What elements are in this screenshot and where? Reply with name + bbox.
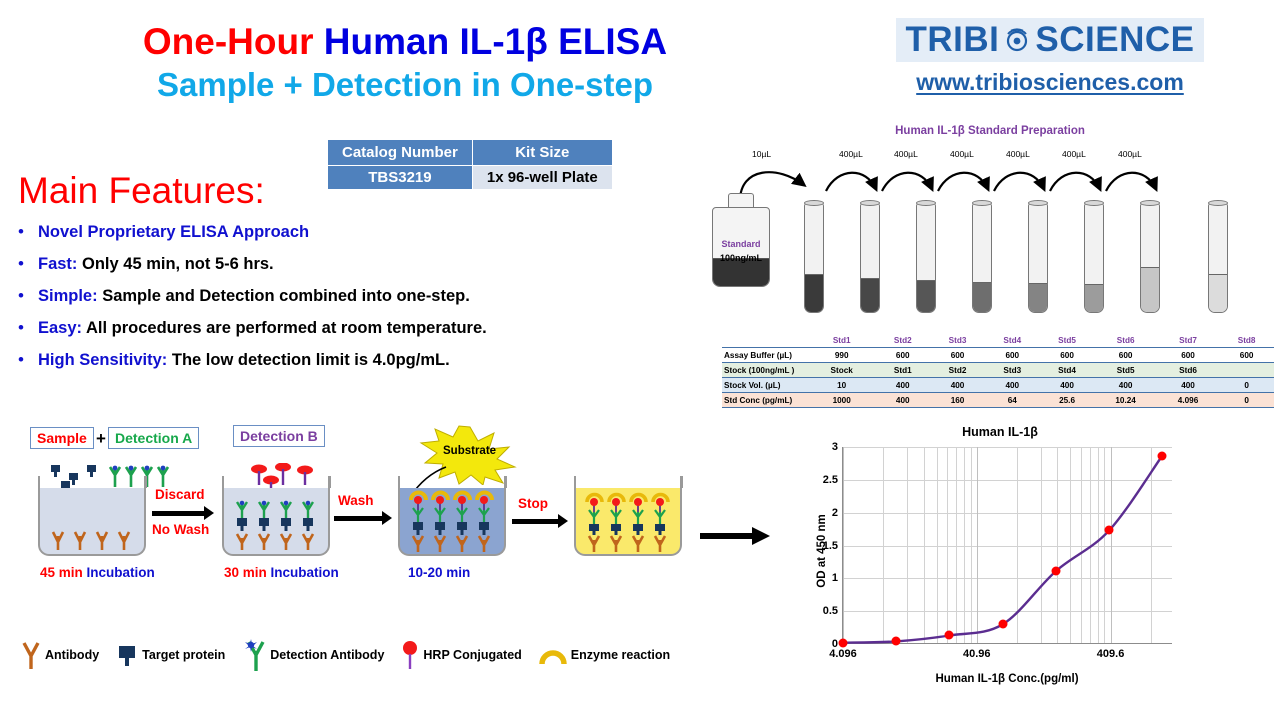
transfer-volume-label: 400µL: [839, 149, 863, 159]
vial-neck: [728, 193, 754, 207]
dilution-row-std-conc: Std Conc (pg/mL) 1000 400 160 64 25.6 10…: [722, 393, 1274, 408]
standard-prep-title: Human IL-1β Standard Preparation: [700, 125, 1280, 137]
dilution-cell: 990: [808, 348, 875, 363]
well-step-1: [38, 488, 146, 556]
dilution-cell: [1219, 363, 1274, 378]
chart-plot-area: 00.511.522.53 4.09640.96409.6: [842, 447, 1172, 644]
hrp-conjugated-icon: [400, 639, 420, 671]
dilution-col-header: Std4: [985, 333, 1040, 348]
chart-x-axis-label: Human IL-1β Conc.(pg/ml): [842, 673, 1172, 685]
catalog-header-size: Kit Size: [472, 140, 612, 166]
dilution-tube-std8: [1208, 203, 1228, 313]
tag-detection-a: Detection A: [108, 427, 199, 449]
dilution-row-label: Std Conc (pg/mL): [722, 393, 808, 408]
dilution-cell: 400: [1094, 378, 1156, 393]
title-part-one-hour: One-Hour: [143, 21, 324, 62]
dilution-cell: Std3: [985, 363, 1040, 378]
dilution-tube-std7: [1140, 203, 1160, 313]
catalog-header-number: Catalog Number: [328, 140, 473, 166]
legend-label: Detection Antibody: [270, 648, 384, 662]
dilution-cell: Std1: [875, 363, 930, 378]
elisa-workflow-diagram: Sample + Detection A: [0, 415, 730, 615]
dilution-cell: 400: [875, 393, 930, 408]
data-point: [839, 638, 848, 647]
dilution-table: Std1 Std2 Std3 Std4 Std5 Std6 Std7 Std8 …: [722, 333, 1274, 408]
data-point: [892, 637, 901, 646]
dilution-cell: 160: [930, 393, 985, 408]
chart-title: Human IL-1β: [800, 425, 1200, 439]
feature-label: Novel Proprietary ELISA Approach: [38, 223, 309, 241]
feature-item: • High Sensitivity: The low detection li…: [18, 350, 678, 370]
feature-text: The low detection limit is 4.0pg/mL.: [167, 351, 449, 369]
legend-item-hrp-conjugated: HRP Conjugated: [400, 639, 521, 671]
dilution-cell: 600: [1040, 348, 1095, 363]
step-1-label: 45 min Incubation: [40, 565, 155, 580]
arrow-2-shaft: [334, 516, 382, 521]
dilution-cell: 600: [1219, 348, 1274, 363]
logo-word-science: SCIENCE: [1035, 20, 1194, 60]
dilution-row-assay-buffer: Assay Buffer (µL) 990 600 600 600 600 60…: [722, 348, 1274, 363]
x-tick-label: 409.6: [1097, 648, 1125, 660]
arrow-1-label-line1: Discard: [155, 487, 205, 502]
dilution-corner-cell: [722, 333, 808, 348]
dilution-cell: 600: [1157, 348, 1219, 363]
detection-antibody-icon: [241, 638, 267, 672]
standard-vial: Standard 100ng/mL: [712, 193, 770, 287]
eye-target-icon: [1002, 25, 1032, 55]
x-tick-label: 4.096: [829, 648, 857, 660]
feature-item: • Novel Proprietary ELISA Approach: [18, 222, 678, 242]
feature-label: High Sensitivity:: [38, 351, 167, 369]
standard-preparation-diagram: Human IL-1β Standard Preparation 10µL 40…: [700, 125, 1280, 325]
well-step-2: [222, 488, 330, 556]
dilution-row-label: Stock (100ng/mL ): [722, 363, 808, 378]
dilution-tube-std6: [1084, 203, 1104, 313]
arrow-1-head: [204, 506, 214, 520]
feature-text: All procedures are performed at room tem…: [82, 319, 487, 337]
dilution-col-header: Std6: [1094, 333, 1156, 348]
dilution-row-stock-volume: Stock Vol. (µL) 10 400 400 400 400 400 4…: [722, 378, 1274, 393]
x-tick-label: 40.96: [963, 648, 991, 660]
arrow-3-label: Stop: [518, 496, 548, 511]
tag-substrate: Substrate: [443, 445, 496, 457]
enzyme-reaction-arc-icon: [538, 642, 568, 668]
dilution-cell: 600: [930, 348, 985, 363]
dilution-col-header: Std8: [1219, 333, 1274, 348]
dilution-cell: 0: [1219, 378, 1274, 393]
vial-label-concentration: 100ng/mL: [712, 253, 770, 263]
dilution-cell: 400: [1157, 378, 1219, 393]
arrow-3-shaft: [512, 519, 558, 524]
bullet-icon: •: [18, 286, 38, 306]
dilution-col-header: Std5: [1040, 333, 1095, 348]
dilution-cell: Std2: [930, 363, 985, 378]
data-point: [1158, 451, 1167, 460]
step-3-label: 10-20 min: [408, 565, 470, 580]
dilution-row-label: Assay Buffer (µL): [722, 348, 808, 363]
plus-icon: +: [96, 429, 106, 449]
tag-sample: Sample: [30, 427, 94, 449]
dilution-cell: 400: [875, 378, 930, 393]
dilution-tube-std1: [804, 203, 824, 313]
dilution-cell: 64: [985, 393, 1040, 408]
y-tick-label: 2.5: [823, 474, 838, 486]
dilution-cell: 400: [930, 378, 985, 393]
transfer-volume-label: 400µL: [1062, 149, 1086, 159]
transfer-volume-label: 400µL: [1006, 149, 1030, 159]
vial-label-standard: Standard: [712, 239, 770, 249]
step-2-time: 30 min: [224, 565, 267, 580]
chart-fit-curve: [843, 447, 1173, 644]
step-1-time: 45 min: [40, 565, 83, 580]
dilution-row-stock-source: Stock (100ng/mL ) Stock Std1 Std2 Std3 S…: [722, 363, 1274, 378]
title-part-product: Human IL-1β ELISA: [324, 21, 667, 62]
transfer-volume-label: 400µL: [1118, 149, 1142, 159]
tag-detection-b: Detection B: [233, 425, 325, 447]
legend-item-target-protein: Target protein: [115, 640, 225, 670]
dilution-tube-std4: [972, 203, 992, 313]
dilution-tube-std5: [1028, 203, 1048, 313]
legend-label: Antibody: [45, 648, 99, 662]
dilution-cell: 400: [985, 378, 1040, 393]
legend-item-detection-antibody: Detection Antibody: [241, 638, 384, 672]
page-title: One-Hour Human IL-1β ELISA Sample + Dete…: [40, 20, 770, 106]
feature-label: Fast:: [38, 255, 77, 273]
y-tick-label: 3: [832, 441, 838, 453]
transfer-volume-label: 400µL: [894, 149, 918, 159]
features-heading: Main Features:: [18, 170, 678, 212]
well-step-3: [398, 488, 506, 556]
legend-label: Enzyme reaction: [571, 648, 670, 662]
step-1-word: Incubation: [83, 565, 155, 580]
dilution-header-row: Std1 Std2 Std3 Std4 Std5 Std6 Std7 Std8: [722, 333, 1274, 348]
feature-item: • Easy: All procedures are performed at …: [18, 318, 678, 338]
arrow-3-head: [558, 514, 568, 528]
y-tick-label: 2: [832, 507, 838, 519]
well-step-4: [574, 488, 682, 556]
transfer-volume-label: 400µL: [950, 149, 974, 159]
dilution-cell: 10.24: [1094, 393, 1156, 408]
title-subtitle: Sample + Detection in One-step: [40, 64, 770, 106]
data-point: [945, 631, 954, 640]
step-2-label: 30 min Incubation: [224, 565, 339, 580]
standard-curve-chart: Human IL-1β OD at 450 nm Human IL-1β Con…: [800, 425, 1200, 710]
dilution-cell: 10: [808, 378, 875, 393]
title-line-1: One-Hour Human IL-1β ELISA: [40, 20, 770, 64]
brand-logo-block: TRIBI SCIENCE www.tribiosciences.com: [840, 18, 1260, 96]
dilution-col-header: Std2: [875, 333, 930, 348]
dilution-tube-std3: [916, 203, 936, 313]
feature-item: • Simple: Sample and Detection combined …: [18, 286, 678, 306]
website-url-link[interactable]: www.tribiosciences.com: [840, 69, 1260, 96]
dilution-cell: 0: [1219, 393, 1274, 408]
bullet-icon: •: [18, 222, 38, 242]
antibody-y-icon: [20, 640, 42, 670]
feature-item: • Fast: Only 45 min, not 5-6 hrs.: [18, 254, 678, 274]
data-point: [998, 620, 1007, 629]
diagram-legend: Antibody Target protein Detection Antibo…: [20, 638, 686, 672]
catalog-header-row: Catalog Number Kit Size: [328, 140, 613, 166]
dilution-col-header: Std3: [930, 333, 985, 348]
arrow-1-shaft: [152, 511, 204, 516]
main-features-section: Main Features: • Novel Proprietary ELISA…: [18, 170, 678, 382]
feature-text: Only 45 min, not 5-6 hrs.: [77, 255, 273, 273]
y-tick-label: 1: [832, 572, 838, 584]
dilution-row-label: Stock Vol. (µL): [722, 378, 808, 393]
legend-label: Target protein: [142, 648, 225, 662]
y-tick-label: 1.5: [823, 540, 838, 552]
arrow-1-label-line2: No Wash: [152, 522, 209, 537]
arrow-2-label: Wash: [338, 493, 374, 508]
dilution-cell: Std6: [1157, 363, 1219, 378]
dilution-cell: 400: [1040, 378, 1095, 393]
target-protein-square-icon: [115, 640, 139, 670]
step-2-word: Incubation: [267, 565, 339, 580]
dilution-cell: Std4: [1040, 363, 1095, 378]
data-point: [1051, 567, 1060, 576]
legend-item-antibody: Antibody: [20, 640, 99, 670]
data-point: [1105, 526, 1114, 535]
dilution-cell: 1000: [808, 393, 875, 408]
dilution-tube-std2: [860, 203, 880, 313]
dilution-cell: 4.096: [1157, 393, 1219, 408]
dilution-cell: 25.6: [1040, 393, 1095, 408]
brand-logo: TRIBI SCIENCE: [896, 18, 1205, 62]
logo-word-tribi: TRIBI: [906, 20, 1000, 60]
y-tick-label: 0.5: [823, 605, 838, 617]
legend-item-enzyme-reaction: Enzyme reaction: [538, 642, 670, 668]
dilution-cell: 600: [985, 348, 1040, 363]
dilution-col-header: Std1: [808, 333, 875, 348]
dilution-col-header: Std7: [1157, 333, 1219, 348]
dilution-cell: 600: [1094, 348, 1156, 363]
feature-text: Sample and Detection combined into one-s…: [98, 287, 470, 305]
arrow-2-head: [382, 511, 392, 525]
feature-label: Easy:: [38, 319, 82, 337]
dilution-cell: Stock: [808, 363, 875, 378]
legend-label: HRP Conjugated: [423, 648, 521, 662]
bullet-icon: •: [18, 254, 38, 274]
bullet-icon: •: [18, 318, 38, 338]
result-arrow: [700, 525, 770, 547]
dilution-cell: 600: [875, 348, 930, 363]
transfer-volume-label: 10µL: [752, 149, 771, 159]
dilution-cell: Std5: [1094, 363, 1156, 378]
feature-label: Simple:: [38, 287, 98, 305]
bullet-icon: •: [18, 350, 38, 370]
